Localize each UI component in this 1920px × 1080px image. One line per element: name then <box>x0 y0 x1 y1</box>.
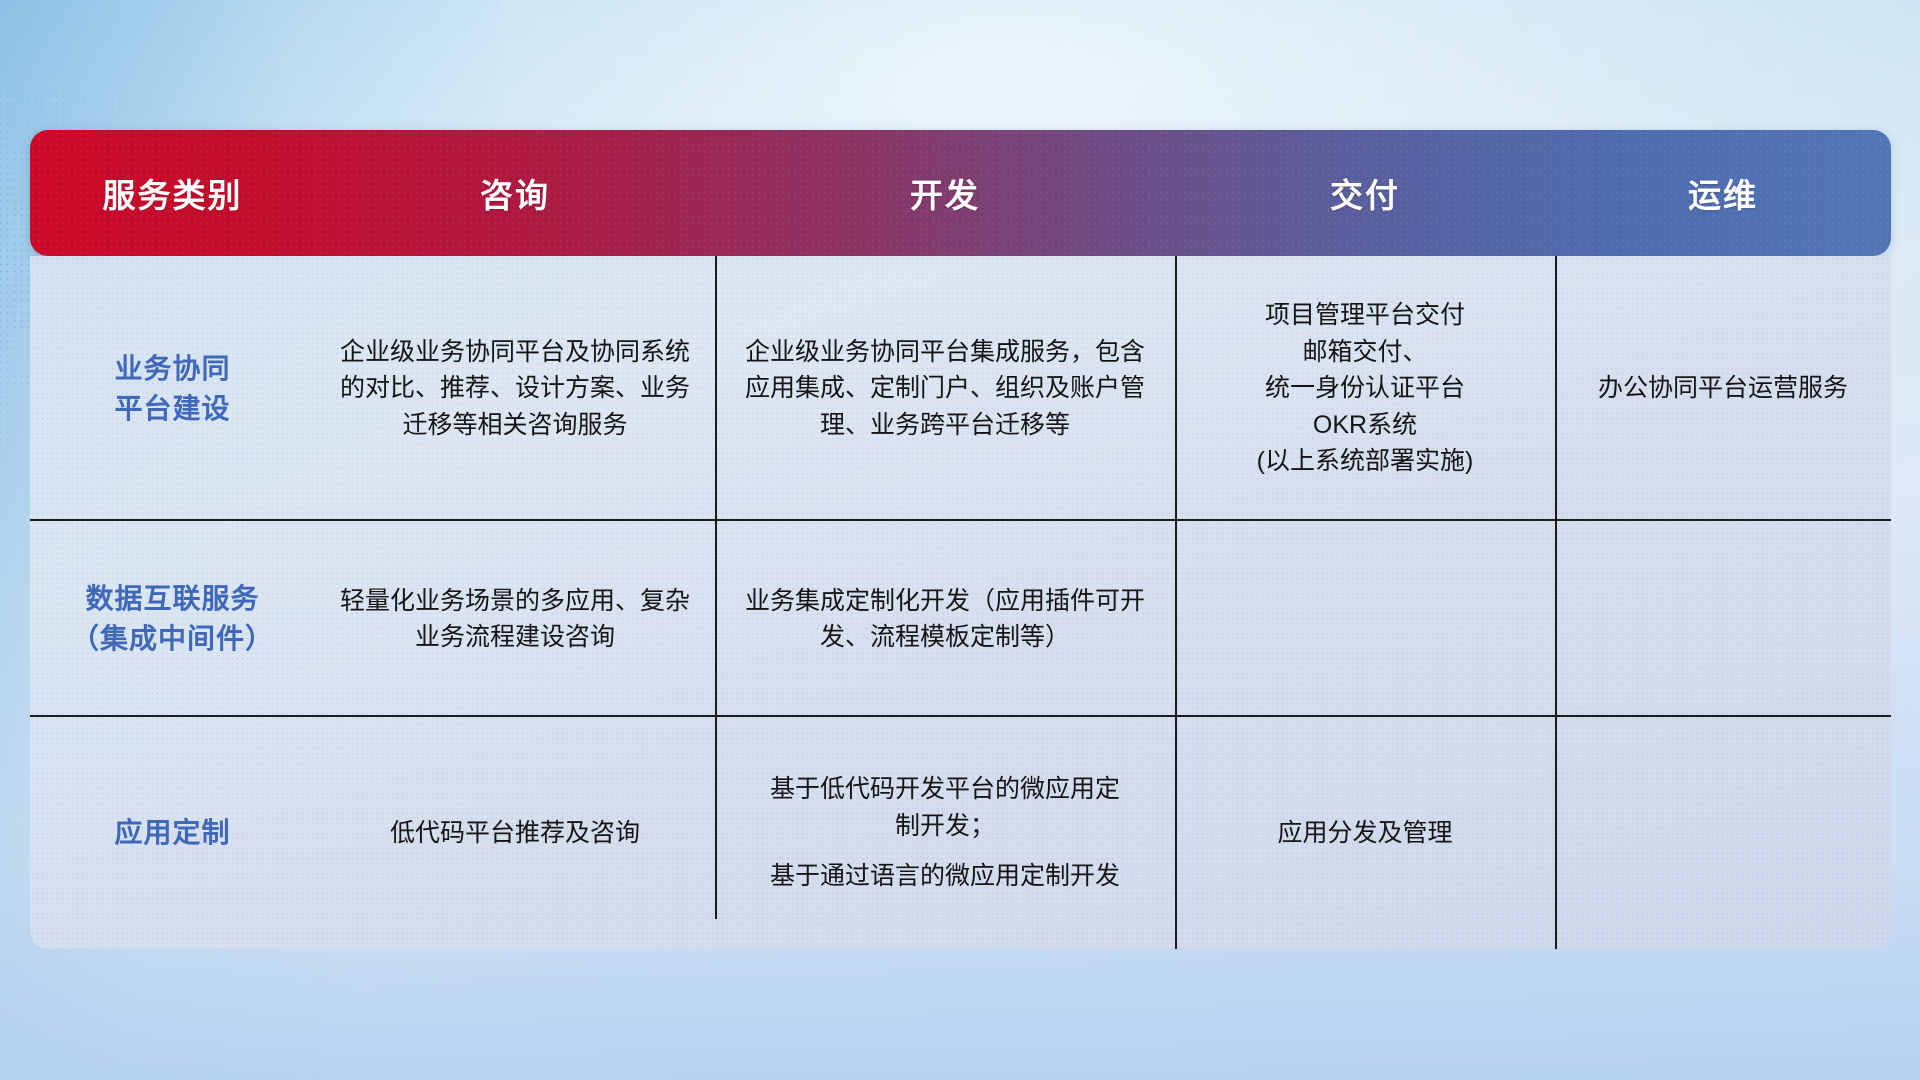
row-category-line: 平台建设 <box>30 389 315 429</box>
cell-delivery-text: 应用分发及管理 <box>1193 815 1537 852</box>
cell-operations <box>1555 717 1891 949</box>
row-category-line: 应用定制 <box>30 813 315 853</box>
table-row: 数据互联服务 （集成中间件） 轻量化业务场景的多应用、复杂业务流程建设咨询 业务… <box>30 521 1891 717</box>
row-category-label: 数据互联服务 （集成中间件） <box>30 521 315 717</box>
row-category-line: 数据互联服务 <box>30 579 315 619</box>
cell-delivery-line: OKR系统 <box>1193 407 1537 444</box>
cell-operations-text: 办公协同平台运营服务 <box>1573 370 1873 407</box>
row-category-line: （集成中间件） <box>30 619 315 659</box>
row-category-line: 业务协同 <box>30 349 315 389</box>
cell-operations: 办公协同平台运营服务 <box>1555 256 1891 521</box>
table-row: 业务协同 平台建设 企业级业务协同平台及协同系统的对比、推荐、设计方案、业务迁移… <box>30 256 1891 521</box>
cell-delivery: 应用分发及管理 <box>1175 717 1555 949</box>
cell-development-line: 基于通过语言的微应用定制开发 <box>733 858 1157 895</box>
row-category-label: 业务协同 平台建设 <box>30 256 315 521</box>
service-matrix-table: 服务类别 咨询 开发 交付 运维 业务协同 平台建设 企业级业务协同平台及协同系… <box>30 130 1891 949</box>
cell-delivery-line: 邮箱交付、 <box>1193 334 1537 371</box>
cell-delivery-line: 项目管理平台交付 <box>1193 297 1537 334</box>
cell-operations <box>1555 521 1891 717</box>
column-header-delivery: 交付 <box>1175 169 1555 217</box>
cell-consulting: 企业级业务协同平台及协同系统的对比、推荐、设计方案、业务迁移等相关咨询服务 <box>315 256 715 521</box>
cell-development: 企业级业务协同平台集成服务，包含应用集成、定制门户、组织及账户管理、业务跨平台迁… <box>715 256 1175 521</box>
cell-development: 基于低代码开发平台的微应用定 制开发； 基于通过语言的微应用定制开发 <box>715 717 1175 949</box>
table-header-row: 服务类别 咨询 开发 交付 运维 <box>30 130 1891 256</box>
cell-delivery <box>1175 521 1555 717</box>
cell-delivery-line: 统一身份认证平台 <box>1193 370 1537 407</box>
cell-development-text: 企业级业务协同平台集成服务，包含应用集成、定制门户、组织及账户管理、业务跨平台迁… <box>733 334 1157 444</box>
table-body: 业务协同 平台建设 企业级业务协同平台及协同系统的对比、推荐、设计方案、业务迁移… <box>30 256 1891 949</box>
cell-development-line: 基于低代码开发平台的微应用定 <box>733 771 1157 808</box>
cell-development-text: 业务集成定制化开发（应用插件可开发、流程模板定制等） <box>733 583 1157 656</box>
table-row: 应用定制 低代码平台推荐及咨询 基于低代码开发平台的微应用定 制开发； 基于通过… <box>30 717 1891 949</box>
column-header-operations: 运维 <box>1555 169 1891 217</box>
cell-development: 业务集成定制化开发（应用插件可开发、流程模板定制等） <box>715 521 1175 717</box>
cell-consulting-text: 低代码平台推荐及咨询 <box>333 815 697 852</box>
cell-consulting-text: 企业级业务协同平台及协同系统的对比、推荐、设计方案、业务迁移等相关咨询服务 <box>333 334 697 444</box>
row-category-label: 应用定制 <box>30 717 315 949</box>
cell-delivery-line: (以上系统部署实施) <box>1193 443 1537 480</box>
cell-development-line: 制开发； <box>733 808 1157 845</box>
cell-delivery: 项目管理平台交付 邮箱交付、 统一身份认证平台 OKR系统 (以上系统部署实施) <box>1175 256 1555 521</box>
cell-consulting: 轻量化业务场景的多应用、复杂业务流程建设咨询 <box>315 521 715 717</box>
column-header-category: 服务类别 <box>30 169 315 217</box>
column-header-consulting: 咨询 <box>315 169 715 217</box>
column-header-development: 开发 <box>715 169 1175 217</box>
cell-consulting: 低代码平台推荐及咨询 <box>315 717 715 949</box>
cell-consulting-text: 轻量化业务场景的多应用、复杂业务流程建设咨询 <box>333 583 697 656</box>
